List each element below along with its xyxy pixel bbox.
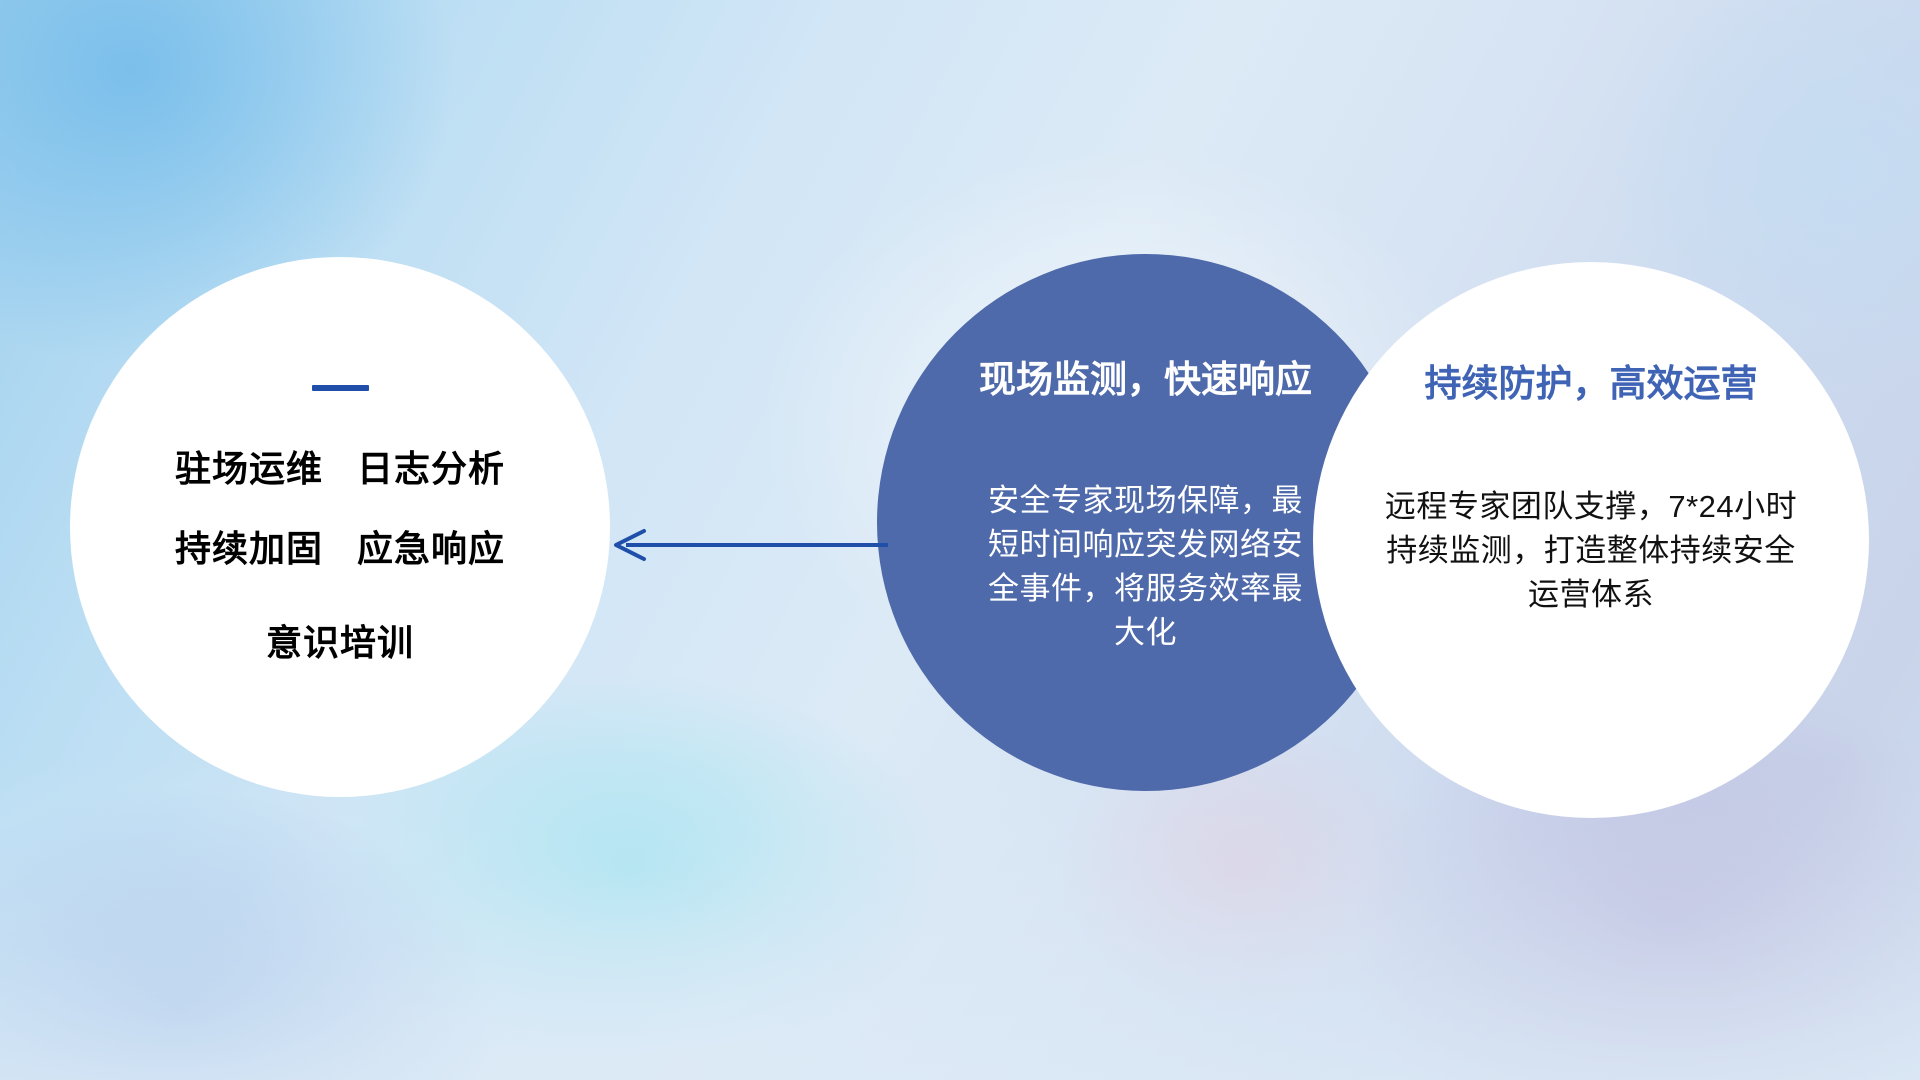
middle-circle-body: 安全专家现场保障，最短时间响应突发网络安全事件，将服务效率最大化	[976, 479, 1316, 655]
right-circle-title: 持续防护，高效运营	[1425, 364, 1758, 405]
arrow-left-icon	[600, 520, 890, 570]
capability-tag-row: 持续加固 应急响应	[175, 531, 505, 567]
capability-tag-row: 驻场运维 日志分析	[175, 451, 505, 487]
capability-tag: 日志分析	[357, 451, 505, 487]
capability-tag-row: 意识培训	[266, 625, 414, 661]
slide-canvas: 现场监测，快速响应 安全专家现场保障，最短时间响应突发网络安全事件，将服务效率最…	[0, 0, 1920, 1080]
middle-circle-title: 现场监测，快速响应	[979, 360, 1312, 401]
capability-tag: 持续加固	[175, 531, 323, 567]
right-circle-body: 远程专家团队支撑，7*24小时持续监测，打造整体持续安全运营体系	[1381, 485, 1801, 617]
capability-tag: 应急响应	[357, 531, 505, 567]
right-circle-content: 持续防护，高效运营 远程专家团队支撑，7*24小时持续监测，打造整体持续安全运营…	[1313, 262, 1869, 818]
capability-tag: 驻场运维	[175, 451, 323, 487]
capability-tag: 意识培训	[266, 625, 414, 661]
accent-dash-icon	[312, 385, 369, 391]
left-circle-content: 驻场运维 日志分析 持续加固 应急响应 意识培训	[70, 257, 610, 797]
